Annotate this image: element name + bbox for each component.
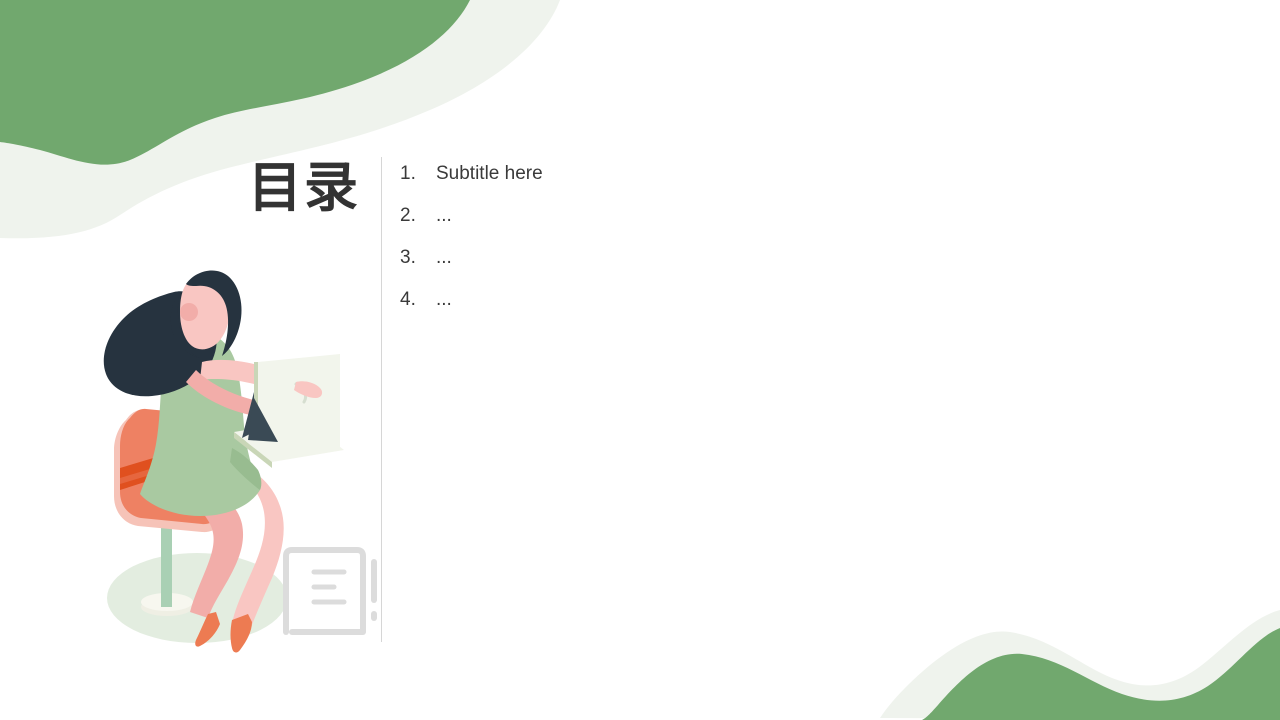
list-item-number: 2.	[400, 205, 436, 227]
page-title: 目录	[150, 160, 360, 217]
shoe-front	[231, 614, 253, 652]
list-item-number: 4.	[400, 289, 436, 311]
list-item-label: ...	[436, 247, 452, 269]
list-item-number: 3.	[400, 247, 436, 269]
table-of-contents-list: 1. Subtitle here 2. ... 3. ... 4. ...	[400, 163, 820, 331]
list-item-label: Subtitle here	[436, 163, 543, 185]
list-item[interactable]: 2. ...	[400, 205, 820, 247]
slide-content: 目录 1. Subtitle here 2. ... 3. ... 4. ...	[0, 0, 1280, 720]
page-title-block: 目录	[150, 160, 360, 217]
ear	[180, 303, 198, 321]
slide-canvas: 目录 1. Subtitle here 2. ... 3. ... 4. ...	[0, 0, 1280, 720]
document-lines-icon	[286, 550, 374, 632]
list-item-number: 1.	[400, 163, 436, 185]
list-item-label: ...	[436, 205, 452, 227]
list-item-label: ...	[436, 289, 452, 311]
illustration-woman-with-laptop	[82, 262, 382, 662]
list-item[interactable]: 4. ...	[400, 289, 820, 331]
list-item[interactable]: 3. ...	[400, 247, 820, 289]
list-item[interactable]: 1. Subtitle here	[400, 163, 820, 205]
